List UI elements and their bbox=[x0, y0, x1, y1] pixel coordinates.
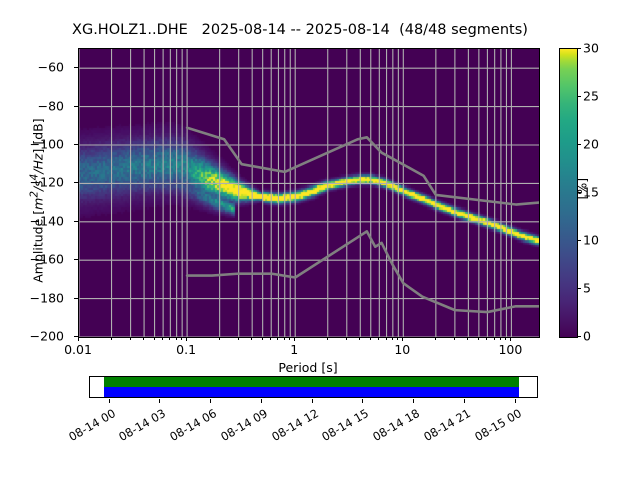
ppsd-canvas-clip bbox=[79, 49, 539, 337]
y-tick-label: −80 bbox=[38, 98, 64, 113]
timeline-tick-label: 08-14 06 bbox=[159, 406, 220, 449]
x-tick-mark-minor bbox=[386, 337, 387, 340]
y-tick-label: −180 bbox=[30, 290, 64, 305]
x-tick-mark-major bbox=[294, 337, 295, 341]
x-tick-mark-minor bbox=[486, 337, 487, 340]
y-tick-label: −100 bbox=[30, 137, 64, 152]
colorbar-tick-mark bbox=[577, 96, 581, 97]
noise-model-curves bbox=[79, 49, 539, 337]
timeline-tick-mark bbox=[515, 399, 516, 403]
x-tick-mark-minor bbox=[262, 337, 263, 340]
colorbar-tick-label: 25 bbox=[583, 89, 599, 104]
x-tick-mark-minor bbox=[270, 337, 271, 340]
timeline-tick-label: 08-14 09 bbox=[209, 406, 270, 449]
x-tick-mark-minor bbox=[284, 337, 285, 340]
x-tick-mark-major bbox=[510, 337, 511, 341]
data-coverage-timeline[interactable] bbox=[89, 376, 538, 398]
ppsd-figure: XG.HOLZ1..DHE 2025-08-14 -- 2025-08-14 (… bbox=[0, 0, 640, 480]
x-tick-label: 10 bbox=[394, 342, 410, 357]
y-tick-mark bbox=[74, 298, 78, 299]
x-tick-mark-minor bbox=[143, 337, 144, 340]
colorbar-tick-mark bbox=[577, 48, 581, 49]
x-tick-mark-minor bbox=[505, 337, 506, 340]
timeline-tick-label: 08-14 03 bbox=[108, 406, 169, 449]
colorbar-tick-label: 10 bbox=[583, 233, 599, 248]
x-tick-mark-minor bbox=[251, 337, 252, 340]
y-tick-mark bbox=[74, 221, 78, 222]
x-tick-mark-minor bbox=[327, 337, 328, 340]
y-tick-mark bbox=[74, 67, 78, 68]
x-tick-mark-minor bbox=[219, 337, 220, 340]
x-tick-mark-minor bbox=[238, 337, 239, 340]
x-tick-mark-major bbox=[78, 337, 79, 341]
x-tick-mark-minor bbox=[162, 337, 163, 340]
y-tick-mark bbox=[74, 106, 78, 107]
colorbar-tick-mark bbox=[577, 240, 581, 241]
x-tick-mark-minor bbox=[478, 337, 479, 340]
x-tick-mark-minor bbox=[500, 337, 501, 340]
y-tick-mark bbox=[74, 182, 78, 183]
x-tick-mark-minor bbox=[176, 337, 177, 340]
x-tick-mark-minor bbox=[397, 337, 398, 340]
timeline-tick-mark bbox=[362, 399, 363, 403]
x-tick-mark-minor bbox=[494, 337, 495, 340]
y-tick-mark bbox=[74, 259, 78, 260]
x-tick-mark-minor bbox=[277, 337, 278, 340]
colorbar-tick-label: 30 bbox=[583, 41, 599, 56]
timeline-tick-label: 08-14 12 bbox=[260, 406, 321, 449]
timeline-tick-mark bbox=[210, 399, 211, 403]
x-tick-label: 0.1 bbox=[176, 342, 196, 357]
y-tick-label: −160 bbox=[30, 252, 64, 267]
colorbar-tick-label: 5 bbox=[583, 281, 591, 296]
x-tick-mark-minor bbox=[154, 337, 155, 340]
timeline-tick-mark bbox=[413, 399, 414, 403]
x-tick-mark-minor bbox=[289, 337, 290, 340]
timeline-tick-label: 08-15 00 bbox=[463, 406, 524, 449]
x-tick-mark-minor bbox=[435, 337, 436, 340]
x-axis-label: Period [s] bbox=[78, 360, 538, 375]
timeline-tick-mark bbox=[464, 399, 465, 403]
x-tick-mark-minor bbox=[378, 337, 379, 340]
x-tick-mark-major bbox=[186, 337, 187, 341]
y-tick-label: −140 bbox=[30, 213, 64, 228]
timeline-tick-label: 08-14 00 bbox=[57, 406, 118, 449]
page-title: XG.HOLZ1..DHE 2025-08-14 -- 2025-08-14 (… bbox=[0, 22, 600, 38]
coverage-band-green bbox=[104, 377, 519, 387]
timeline-tick-mark bbox=[261, 399, 262, 403]
colorbar-tick-label: 0 bbox=[583, 329, 591, 344]
timeline-tick-label: 08-14 15 bbox=[311, 406, 372, 449]
colorbar-label: [%] bbox=[575, 120, 590, 200]
x-tick-mark-minor bbox=[130, 337, 131, 340]
timeline-tick-mark bbox=[312, 399, 313, 403]
x-tick-mark-minor bbox=[467, 337, 468, 340]
x-tick-mark-minor bbox=[346, 337, 347, 340]
timeline-tick-label: 08-14 18 bbox=[361, 406, 422, 449]
y-tick-label: −200 bbox=[30, 329, 64, 344]
x-tick-mark-minor bbox=[392, 337, 393, 340]
x-tick-mark-minor bbox=[169, 337, 170, 340]
x-tick-mark-minor bbox=[454, 337, 455, 340]
timeline-tick-mark bbox=[109, 399, 110, 403]
timeline-tick-label: 08-14 21 bbox=[412, 406, 473, 449]
ppsd-plot-area[interactable] bbox=[78, 48, 540, 338]
colorbar-tick-mark bbox=[577, 336, 581, 337]
coverage-band-blue bbox=[104, 387, 519, 397]
y-tick-label: −60 bbox=[38, 60, 64, 75]
x-tick-mark-minor bbox=[370, 337, 371, 340]
x-tick-label: 0.01 bbox=[64, 342, 92, 357]
x-tick-mark-minor bbox=[181, 337, 182, 340]
y-tick-label: −120 bbox=[30, 175, 64, 190]
x-tick-label: 100 bbox=[498, 342, 522, 357]
x-tick-mark-major bbox=[402, 337, 403, 341]
y-tick-mark bbox=[74, 144, 78, 145]
timeline-tick-mark bbox=[159, 399, 160, 403]
colorbar-tick-mark bbox=[577, 288, 581, 289]
x-tick-label: 1 bbox=[290, 342, 298, 357]
x-tick-mark-minor bbox=[111, 337, 112, 340]
x-tick-mark-minor bbox=[359, 337, 360, 340]
